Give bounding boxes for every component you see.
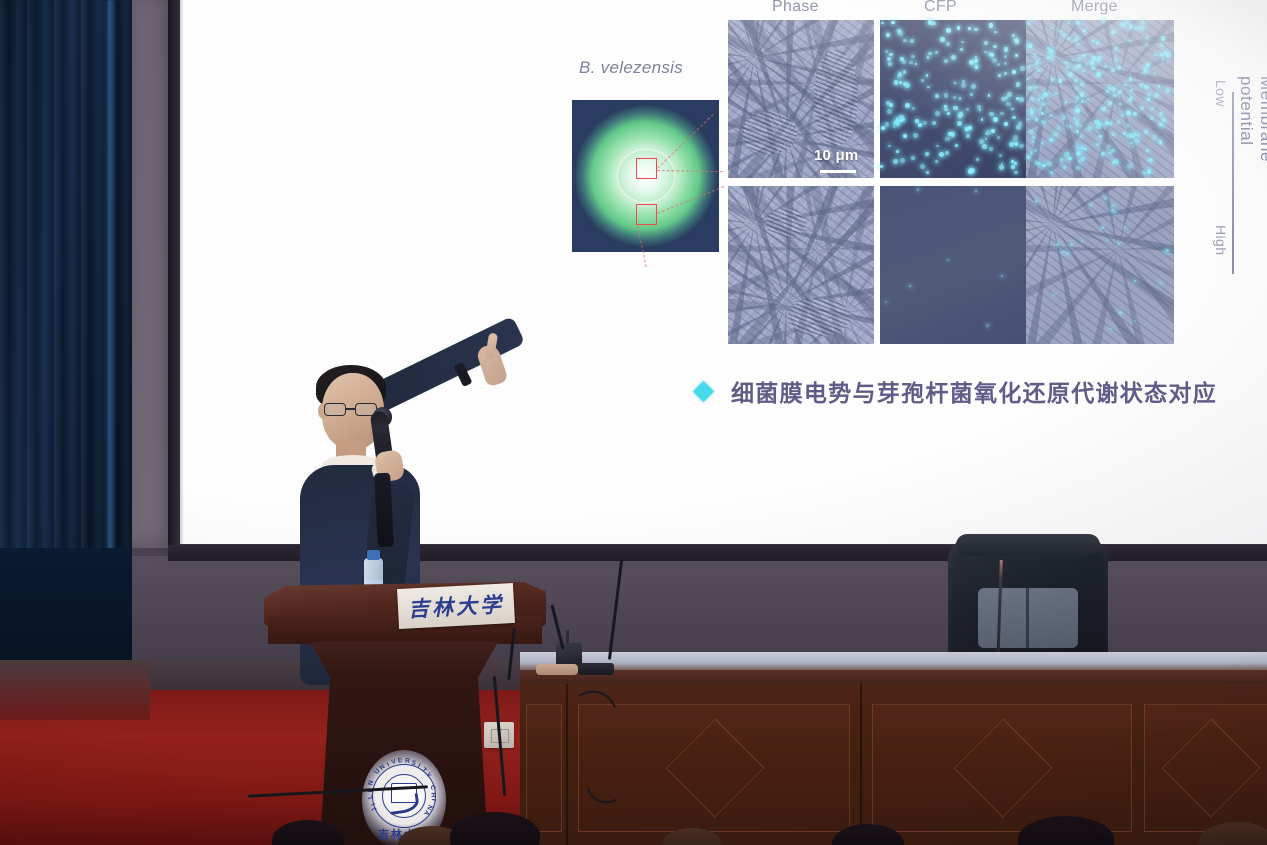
scalebar-label: 10 μm <box>814 147 858 164</box>
scalebar-line <box>820 170 856 173</box>
lectern-neck <box>310 642 498 682</box>
roi-box-upper <box>636 158 657 179</box>
table-equipment-secondary <box>578 663 614 675</box>
conference-table <box>520 652 1267 845</box>
cfp-dots-high <box>880 186 1026 344</box>
colony-image <box>572 100 719 252</box>
roi-box-lower <box>636 204 657 225</box>
presiding-chair <box>948 538 1108 668</box>
panel-phase-low: 10 μm <box>728 20 874 178</box>
cfp-dots-merge-high <box>1026 186 1174 344</box>
panel-cfp-low <box>880 20 1026 178</box>
axis-line <box>1232 92 1234 274</box>
screen-edge-shadow <box>168 0 184 550</box>
lectern-nameplate: 吉林大学 <box>397 583 515 629</box>
cfp-dots-low <box>880 20 1026 178</box>
axis-label-low: Low <box>1213 80 1229 107</box>
slide-bullet-text: 细菌膜电势与芽孢杆菌氧化还原代谢状态对应 <box>731 374 1217 408</box>
lecture-hall-scene: B. velezensis Phase CFP Merge <box>0 0 1267 845</box>
panel-merge-low <box>1026 20 1174 178</box>
axis-title: Membrane potential <box>1236 76 1267 162</box>
axis-label-high: High <box>1213 225 1229 255</box>
panel-phase-high <box>728 186 874 344</box>
column-header-phase: Phase <box>772 0 819 16</box>
column-header-cfp: CFP <box>924 0 957 16</box>
panel-cfp-high <box>880 186 1026 344</box>
curtain-highlight <box>104 0 117 560</box>
cfp-dots-merge-low <box>1026 20 1174 178</box>
stage-carpet-left <box>0 660 150 720</box>
lectern: 吉林大学 JILINUNIVERSITYCHINA 吉林大学 <box>264 566 552 845</box>
colony-caption: B. velezensis <box>579 58 683 78</box>
slide-bullet-row: 细菌膜电势与芽孢杆菌氧化还原代谢状态对应 <box>696 374 1217 408</box>
roi-leader-line-4 <box>637 226 647 267</box>
roi-leader-line-1 <box>657 114 714 169</box>
panel-merge-high <box>1026 186 1174 344</box>
diamond-bullet-icon <box>693 380 714 401</box>
column-header-merge: Merge <box>1071 0 1118 16</box>
table-equipment-tray <box>536 664 578 675</box>
water-bottle-cap <box>367 550 380 560</box>
lectern-nameplate-text: 吉林大学 <box>397 583 515 629</box>
